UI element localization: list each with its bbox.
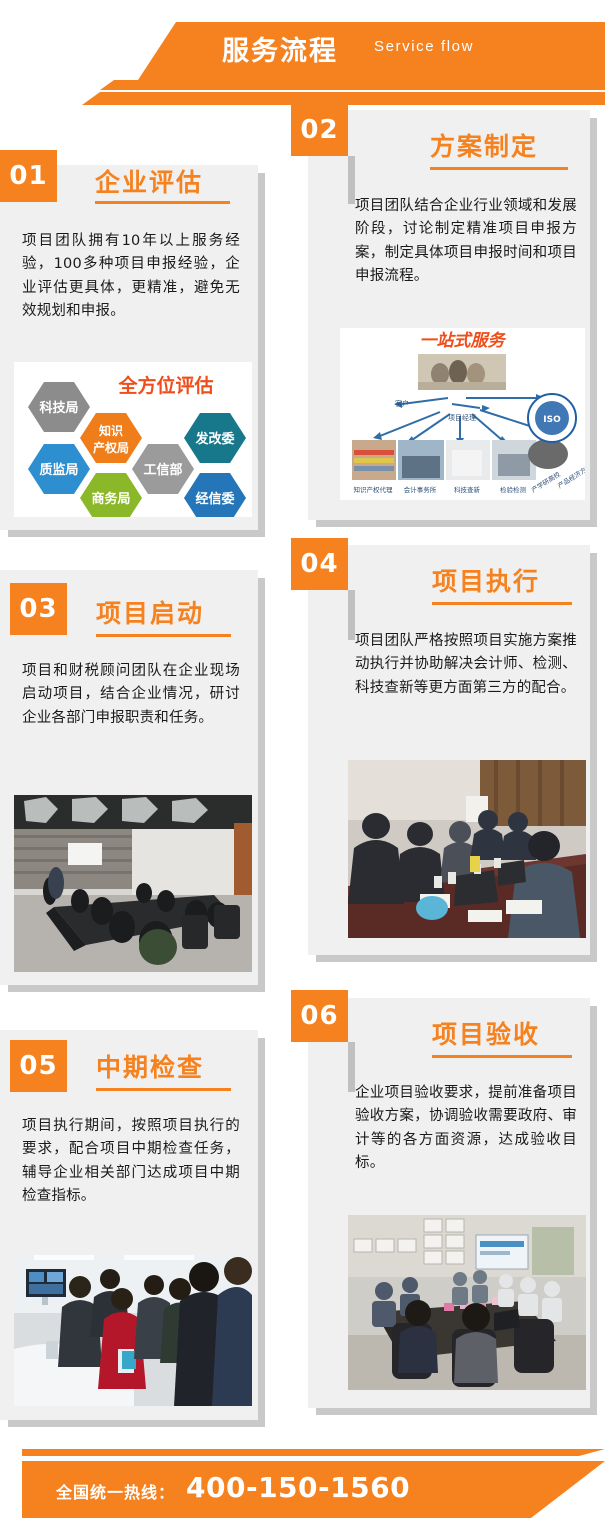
one-stop-service-diagram: ISO 一站式服务 客户 项目经理 知识产权代理 会计事务所 科技查新 检验检测… (340, 328, 585, 500)
hex-label-2: 质监局 (39, 462, 78, 478)
header-banner-stripe-1 (100, 80, 605, 90)
hex-label-4: 商务局 (91, 491, 130, 507)
service-center-label-0: 客户 (395, 399, 409, 408)
service-node-3: 检验检测 (500, 485, 527, 494)
step-number-04: 04 (300, 549, 338, 579)
boardroom-acceptance-photo (348, 1215, 586, 1390)
meeting-laptops-photo (348, 760, 586, 938)
step-body-06: 企业项目验收要求，提前准备项目验收方案，协调验收需要政府、审计等的各方面资源，达… (355, 1082, 577, 1176)
conference-room-photo (14, 795, 252, 972)
step-title-06: 项目验收 (432, 1015, 540, 1051)
step-number-05: 05 (19, 1051, 57, 1081)
step-badge-03: 03 (10, 583, 67, 635)
step-number-03: 03 (19, 594, 57, 624)
step-title-02: 方案制定 (430, 127, 538, 163)
step-body-05: 项目执行期间，按照项目执行的要求，配合项目中期检查任务，辅导企业相关部门达成项目… (22, 1115, 240, 1209)
step-number-06: 06 (300, 1001, 338, 1031)
footer-hotline-number[interactable]: 400-150-1560 (186, 1471, 410, 1504)
step-body-03: 项目和财税顾问团队在企业现场启动项目，结合企业情况，研讨企业各部门申报职责和任务… (22, 660, 240, 730)
showroom-visit-photo (14, 1253, 252, 1406)
hex-label-1b: 产权局 (93, 440, 129, 455)
page-subtitle: Service flow (374, 38, 474, 55)
hex-label-1a: 知识 (98, 423, 123, 438)
hex-label-6: 经信委 (195, 491, 234, 507)
step-badge-06: 06 (291, 990, 348, 1042)
step-title-05: 中期检查 (96, 1048, 204, 1084)
step-badge-01: 01 (0, 150, 57, 202)
service-center-label-1: 项目经理 (448, 413, 476, 422)
hex-label-3: 工信部 (143, 462, 182, 478)
hex-diagram-title: 全方位评估 (117, 374, 213, 397)
step-title-03: 项目启动 (96, 594, 204, 630)
service-diagram-title: 一站式服务 (420, 331, 508, 351)
step-badge-shadow-02 (348, 156, 355, 204)
step-number-01: 01 (9, 161, 47, 191)
service-node-1: 会计事务所 (404, 485, 437, 494)
page-header: 服务流程 Service flow (0, 0, 605, 105)
step-title-rule-05 (96, 1088, 231, 1091)
step-badge-shadow-04 (348, 590, 355, 640)
step-body-01: 项目团队拥有10年以上服务经验，100多种项目申报经验，企业评估更具体，更精准，… (22, 230, 240, 324)
step-title-rule-01 (95, 201, 230, 204)
hex-label-5: 发改委 (194, 431, 234, 447)
service-node-2: 科技查新 (454, 485, 481, 494)
footer-hotline-label: 全国统一热线： (56, 1479, 175, 1503)
hex-label-0: 科技局 (39, 400, 78, 416)
step-number-02: 02 (300, 115, 338, 145)
step-title-rule-03 (96, 634, 231, 637)
step-title-rule-02 (430, 167, 568, 170)
step-title-01: 企业评估 (95, 163, 203, 199)
service-flow-infographic: 服务流程 Service flow 01 企业评估 项目团队拥有10年以上服务经… (0, 0, 605, 1538)
iso-badge-text: ISO (543, 415, 561, 425)
step-badge-04: 04 (291, 538, 348, 590)
footer-accent-line (22, 1449, 605, 1456)
hex-diagram: 科技局 质监局 知识 产权局 商务局 工信部 发改委 经信委 (14, 362, 252, 517)
header-banner-main (138, 22, 605, 80)
step-title-rule-04 (432, 602, 572, 605)
step-badge-shadow-06 (348, 1042, 355, 1092)
step-title-rule-06 (432, 1055, 572, 1058)
step-body-02: 项目团队结合企业行业领域和发展阶段，讨论制定精准项目申报方案，制定具体项目申报时… (355, 195, 577, 289)
page-title: 服务流程 (222, 29, 338, 68)
step-badge-05: 05 (10, 1040, 67, 1092)
step-badge-02: 02 (291, 104, 348, 156)
service-node-0: 知识产权代理 (354, 485, 394, 494)
step-body-04: 项目团队严格按照项目实施方案推动执行并协助解决会计师、检测、科技查新等更方面第三… (355, 630, 577, 700)
step-title-04: 项目执行 (432, 562, 540, 598)
